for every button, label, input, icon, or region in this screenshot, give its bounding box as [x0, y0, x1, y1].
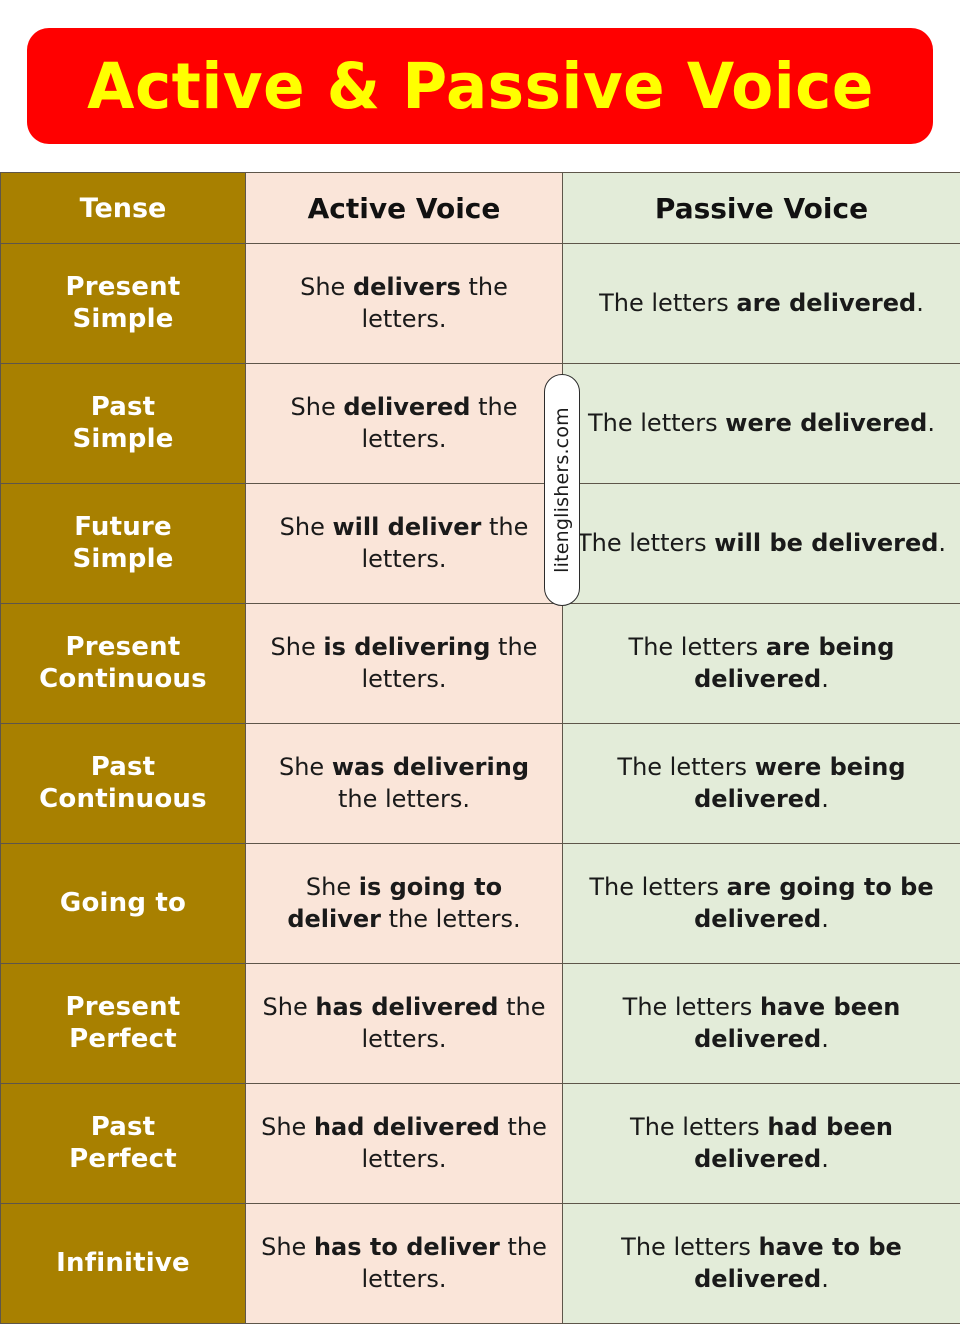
active-text-emphasis: delivered [343, 393, 470, 421]
tense-label-line2: Simple [11, 304, 235, 336]
passive-text-prefix: The letters [617, 753, 754, 781]
page-title: Active & Passive Voice [87, 55, 874, 118]
tense-label-line1: Past [11, 1112, 235, 1144]
active-text-prefix: She [271, 633, 324, 661]
watermark-badge: litenglishers.com [544, 374, 580, 606]
tense-cell: PastPerfect [1, 1084, 246, 1204]
active-text-prefix: She [279, 753, 332, 781]
active-voice-cell: She is delivering the letters. [246, 604, 563, 724]
active-text-suffix: the letters. [381, 905, 521, 933]
active-text-prefix: She [306, 873, 359, 901]
tense-cell: FutureSimple [1, 484, 246, 604]
passive-voice-cell: The letters will be delivered. [563, 484, 960, 604]
title-banner: Active & Passive Voice [27, 28, 933, 144]
tense-cell: PresentContinuous [1, 604, 246, 724]
passive-text-suffix: . [821, 1145, 829, 1173]
passive-text-prefix: The letters [630, 1113, 767, 1141]
passive-voice-cell: The letters are going to be delivered. [563, 844, 960, 964]
active-text-prefix: She [291, 393, 344, 421]
active-text-suffix: the letters. [338, 785, 470, 813]
tense-cell: PastContinuous [1, 724, 246, 844]
table-row: PastContinuousShe was delivering the let… [1, 724, 960, 844]
passive-text-suffix: . [927, 409, 935, 437]
active-voice-cell: She has to deliver the letters. [246, 1204, 563, 1324]
table-row: PresentSimpleShe delivers the letters.Th… [1, 244, 960, 364]
tense-cell: Infinitive [1, 1204, 246, 1324]
active-voice-cell: She is going to deliver the letters. [246, 844, 563, 964]
active-voice-cell: She delivers the letters. [246, 244, 563, 364]
poster-root: Active & Passive Voice Tense Active Voic… [0, 0, 960, 1344]
tense-cell: PastSimple [1, 364, 246, 484]
column-header-tense: Tense [1, 173, 246, 244]
active-voice-cell: She will deliver the letters. [246, 484, 563, 604]
active-text-prefix: She [300, 273, 353, 301]
passive-text-prefix: The letters [588, 409, 725, 437]
tense-label-line2: Simple [11, 544, 235, 576]
active-passive-voice-table: Tense Active Voice Passive Voice Present… [0, 172, 960, 1324]
active-text-emphasis: will deliver [332, 513, 481, 541]
active-voice-cell: She has delivered the letters. [246, 964, 563, 1084]
active-text-emphasis: was delivering [332, 753, 529, 781]
passive-text-suffix: . [821, 1265, 829, 1293]
passive-text-prefix: The letters [621, 1233, 758, 1261]
active-text-emphasis: had delivered [314, 1113, 500, 1141]
passive-voice-cell: The letters are being delivered. [563, 604, 960, 724]
tense-label-line1: Present [11, 272, 235, 304]
table-row: FutureSimpleShe will deliver the letters… [1, 484, 960, 604]
active-voice-cell: She had delivered the letters. [246, 1084, 563, 1204]
tense-cell: PresentPerfect [1, 964, 246, 1084]
passive-text-emphasis: will be delivered [714, 529, 938, 557]
active-text-prefix: She [280, 513, 333, 541]
table-row: PastPerfectShe had delivered the letters… [1, 1084, 960, 1204]
tense-label-line1: Past [11, 392, 235, 424]
passive-text-suffix: . [821, 905, 829, 933]
passive-text-emphasis: were delivered [725, 409, 927, 437]
passive-text-prefix: The letters [623, 993, 760, 1021]
tense-label-line1: Present [11, 632, 235, 664]
tense-cell: Going to [1, 844, 246, 964]
passive-text-prefix: The letters [629, 633, 766, 661]
passive-voice-cell: The letters have been delivered. [563, 964, 960, 1084]
passive-voice-cell: The letters were being delivered. [563, 724, 960, 844]
passive-voice-cell: The letters were delivered. [563, 364, 960, 484]
active-voice-cell: She was delivering the letters. [246, 724, 563, 844]
passive-text-emphasis: are going to be delivered [694, 873, 934, 932]
table-row: InfinitiveShe has to deliver the letters… [1, 1204, 960, 1324]
passive-text-suffix: . [821, 665, 829, 693]
watermark-label: litenglishers.com [551, 407, 573, 573]
tense-label-line1: Going to [11, 888, 235, 920]
table-row: PresentPerfectShe has delivered the lett… [1, 964, 960, 1084]
passive-text-prefix: The letters [577, 529, 714, 557]
tense-label-line2: Perfect [11, 1144, 235, 1176]
table-row: Going toShe is going to deliver the lett… [1, 844, 960, 964]
passive-text-suffix: . [821, 785, 829, 813]
passive-text-suffix: . [821, 1025, 829, 1053]
tense-cell: PresentSimple [1, 244, 246, 364]
passive-text-prefix: The letters [599, 289, 736, 317]
active-text-prefix: She [261, 1233, 314, 1261]
voice-table-container: Tense Active Voice Passive Voice Present… [0, 172, 960, 1324]
passive-text-emphasis: are delivered [736, 289, 916, 317]
active-text-prefix: She [263, 993, 316, 1021]
table-body: PresentSimpleShe delivers the letters.Th… [1, 244, 960, 1324]
tense-label-line1: Present [11, 992, 235, 1024]
active-text-emphasis: delivers [353, 273, 461, 301]
passive-voice-cell: The letters have to be delivered. [563, 1204, 960, 1324]
passive-voice-cell: The letters are delivered. [563, 244, 960, 364]
column-header-passive: Passive Voice [563, 173, 960, 244]
passive-text-suffix: . [916, 289, 924, 317]
active-text-prefix: She [261, 1113, 314, 1141]
tense-label-line2: Perfect [11, 1024, 235, 1056]
active-voice-cell: She delivered the letters. [246, 364, 563, 484]
passive-text-suffix: . [938, 529, 946, 557]
passive-voice-cell: The letters had been delivered. [563, 1084, 960, 1204]
table-header-row: Tense Active Voice Passive Voice [1, 173, 960, 244]
tense-label-line2: Continuous [11, 784, 235, 816]
active-text-emphasis: has to deliver [314, 1233, 500, 1261]
tense-label-line1: Future [11, 512, 235, 544]
tense-label-line1: Infinitive [11, 1248, 235, 1280]
active-text-emphasis: is delivering [323, 633, 490, 661]
column-header-active: Active Voice [246, 173, 563, 244]
table-row: PastSimpleShe delivered the letters.The … [1, 364, 960, 484]
passive-text-prefix: The letters [589, 873, 726, 901]
active-text-emphasis: has delivered [315, 993, 498, 1021]
tense-label-line2: Simple [11, 424, 235, 456]
table-row: PresentContinuousShe is delivering the l… [1, 604, 960, 724]
tense-label-line1: Past [11, 752, 235, 784]
tense-label-line2: Continuous [11, 664, 235, 696]
